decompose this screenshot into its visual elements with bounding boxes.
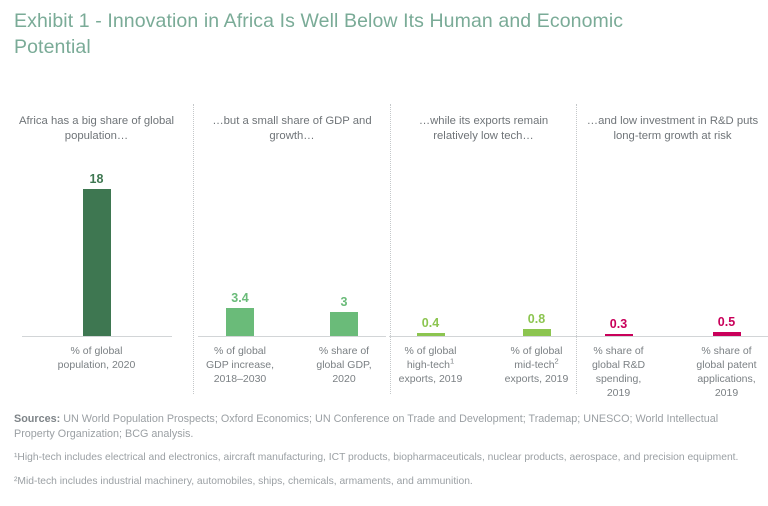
chart-panel-2: …but a small share of GDP and growth…3.4…: [193, 104, 390, 394]
bar-value-label: 0.8: [528, 312, 545, 326]
footer: Sources: UN World Population Prospects; …: [14, 412, 756, 498]
bar-rect: [713, 332, 741, 336]
bar-group: 3.4: [198, 104, 282, 336]
bar-value-label: 3.4: [231, 291, 248, 305]
category-label: % of globalhigh-tech1exports, 2019: [389, 344, 473, 386]
plot-area: 0.30.5: [577, 104, 768, 337]
category-labels: % of globalGDP increase,2018–2030% share…: [198, 344, 386, 386]
plot-area: 0.40.8: [391, 104, 576, 337]
bar-series: 0.40.8: [389, 104, 579, 336]
bar-group: 0.5: [685, 104, 768, 336]
category-label: % share ofglobal R&Dspending,2019: [577, 344, 661, 400]
axis-baseline: [389, 336, 579, 337]
bar-series: 3.43: [198, 104, 386, 336]
bar-rect: [523, 329, 551, 336]
axis-baseline: [198, 336, 386, 337]
bar-rect: [605, 334, 633, 336]
footnote: ¹High-tech includes electrical and elect…: [14, 451, 756, 466]
category-labels: % of globalpopulation, 2020: [27, 344, 167, 372]
bar-rect: [417, 333, 445, 336]
category-labels: % share ofglobal R&Dspending,2019% share…: [577, 344, 768, 400]
bar-group: 0.3: [577, 104, 661, 336]
bar-value-label: 18: [90, 172, 104, 186]
footnote-marker: 2: [555, 357, 559, 366]
bar-rect: [330, 312, 358, 336]
sources-label: Sources:: [14, 413, 60, 425]
chart-panel-1: Africa has a big share of global populat…: [0, 104, 193, 394]
sources-text: UN World Population Prospects; Oxford Ec…: [14, 413, 718, 440]
bar-value-label: 0.3: [610, 317, 627, 331]
bar-group: 18: [27, 104, 167, 336]
bar-value-label: 0.5: [718, 315, 735, 329]
category-label: % of globalGDP increase,2018–2030: [198, 344, 282, 386]
plot-area: 3.43: [194, 104, 390, 337]
bar-rect: [83, 189, 111, 336]
axis-baseline: [577, 336, 768, 337]
axis-baseline: [22, 336, 172, 337]
bar-rect: [226, 308, 254, 336]
category-label: % share ofglobal GDP,2020: [302, 344, 386, 386]
footnote: ²Mid-tech includes industrial machinery,…: [14, 475, 756, 490]
category-labels: % of globalhigh-tech1exports, 2019% of g…: [389, 344, 579, 386]
sources-line: Sources: UN World Population Prospects; …: [14, 412, 756, 441]
bar-group: 3: [302, 104, 386, 336]
footnotes: ¹High-tech includes electrical and elect…: [14, 451, 756, 489]
category-label: % share ofglobal patentapplications,2019: [685, 344, 768, 400]
chart-panel-3: …while its exports remain relatively low…: [390, 104, 576, 394]
plot-area: 18: [0, 104, 193, 337]
chart-panel-4: …and low investment in R&D puts long-ter…: [576, 104, 768, 394]
page-title: Exhibit 1 - Innovation in Africa Is Well…: [14, 8, 654, 60]
chart-panels: Africa has a big share of global populat…: [0, 104, 768, 394]
bar-group: 0.8: [495, 104, 579, 336]
category-label: % of globalpopulation, 2020: [27, 344, 167, 372]
bar-value-label: 0.4: [422, 316, 439, 330]
bar-series: 18: [27, 104, 167, 336]
bar-group: 0.4: [389, 104, 473, 336]
bar-series: 0.30.5: [577, 104, 768, 336]
category-label: % of globalmid-tech2exports, 2019: [495, 344, 579, 386]
footnote-marker: 1: [450, 357, 454, 366]
bar-value-label: 3: [341, 295, 348, 309]
